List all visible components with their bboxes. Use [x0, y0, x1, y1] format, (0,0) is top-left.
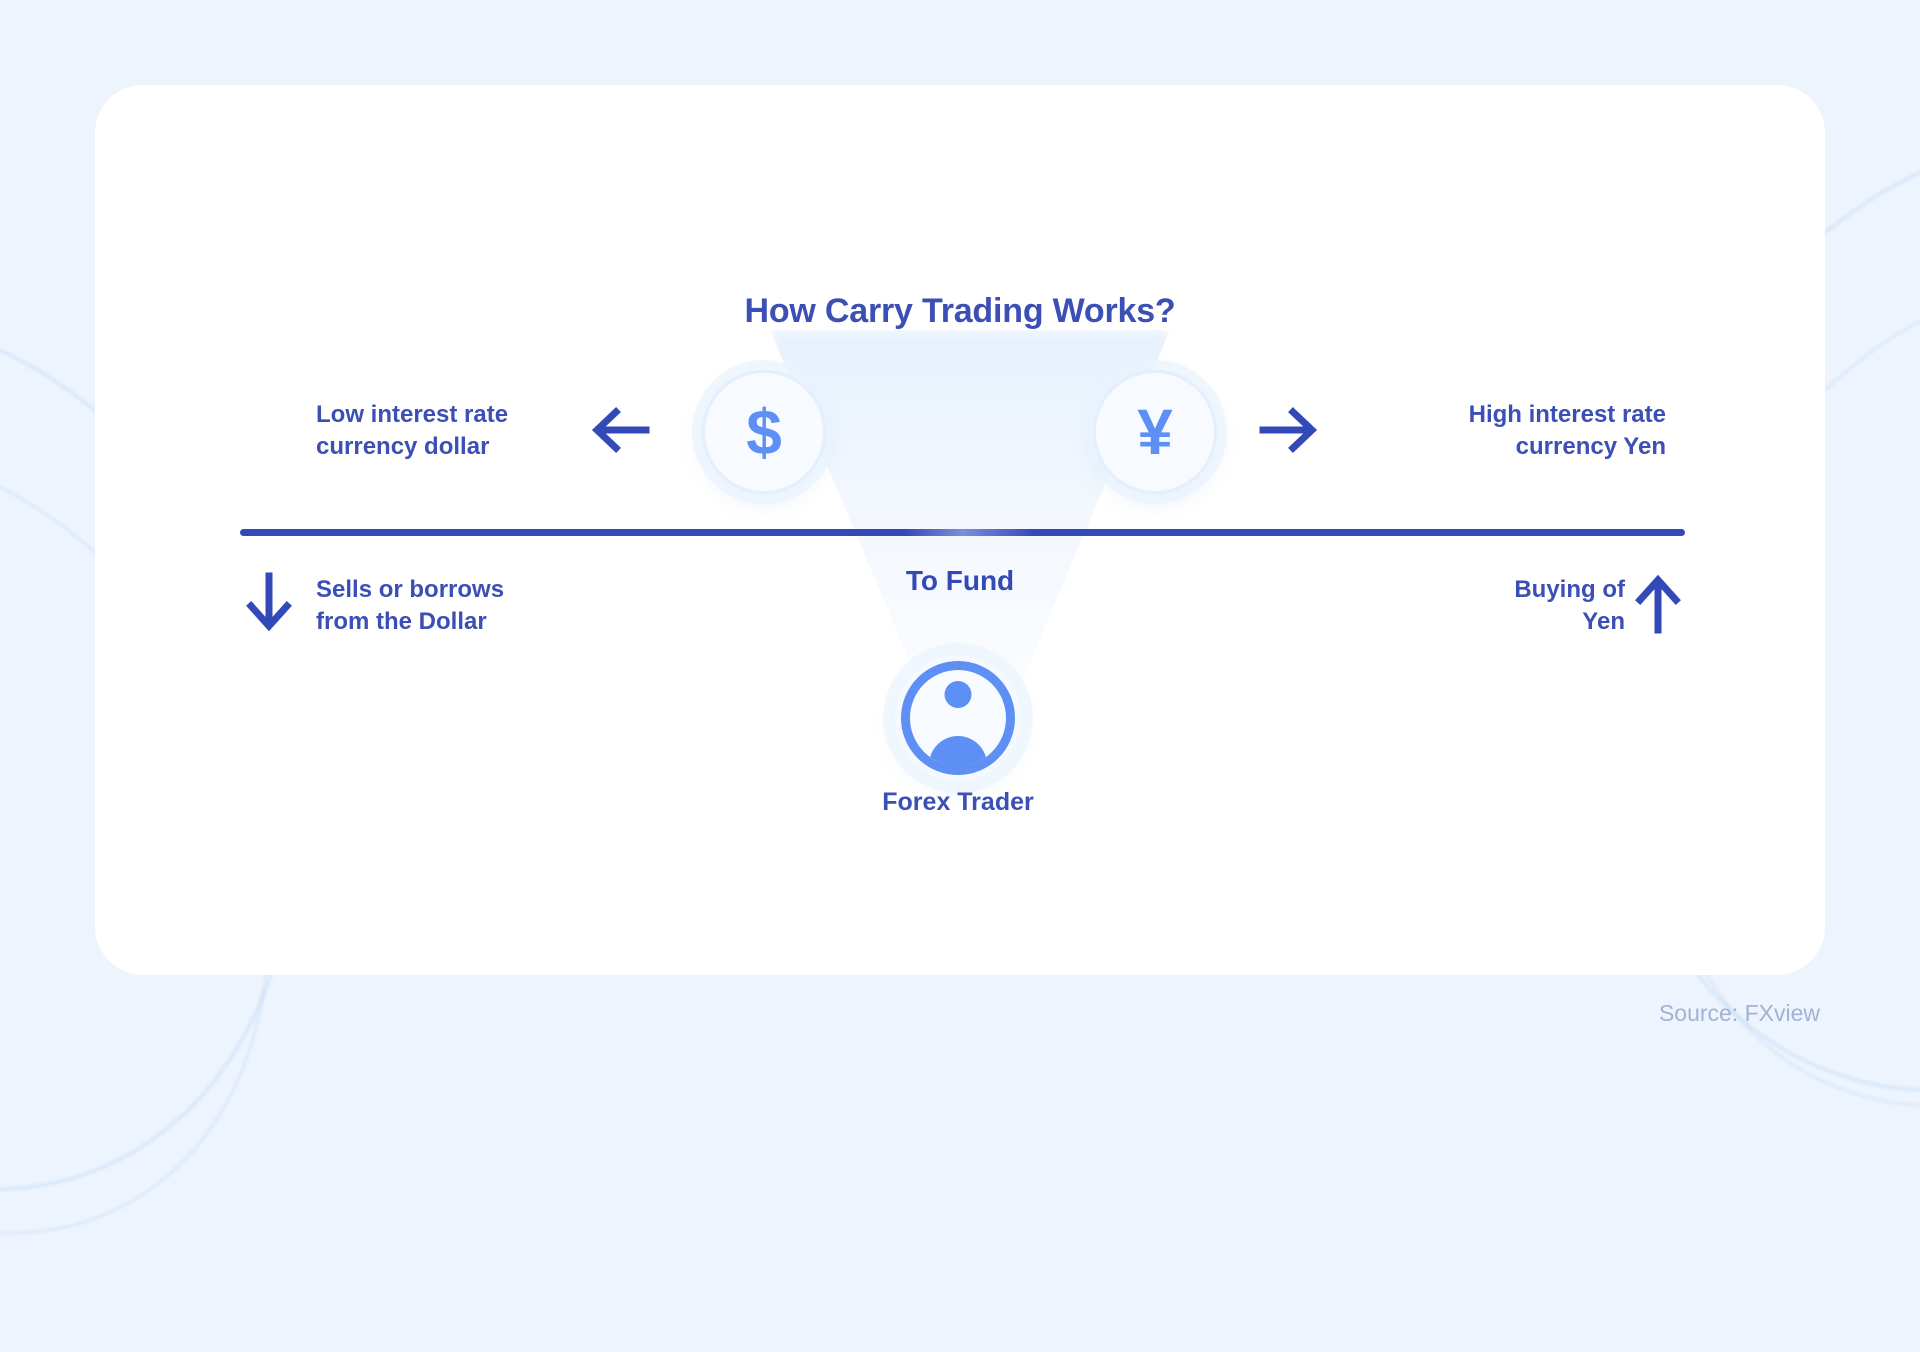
label-high-interest-rate: High interest rate currency Yen	[1366, 399, 1666, 462]
divider-line	[240, 529, 1685, 536]
user-avatar-icon	[895, 655, 1021, 781]
avatar-body	[929, 736, 987, 772]
label-buying-of-yen: Buying of Yen	[1365, 574, 1625, 637]
label-low-interest-rate: Low interest rate currency dollar	[316, 399, 616, 462]
label-sells-or-borrows: Sells or borrows from the Dollar	[316, 574, 616, 637]
arrow-up-icon	[1632, 572, 1684, 639]
dollar-symbol: $	[746, 400, 782, 464]
source-credit: Source: FXview	[1659, 1000, 1820, 1027]
dollar-coin-icon: $	[702, 370, 826, 494]
avatar-head	[945, 681, 972, 708]
arrow-down-icon	[243, 572, 295, 639]
yen-coin-icon: ¥	[1093, 370, 1217, 494]
label-forex-trader: Forex Trader	[838, 788, 1078, 817]
page-title: How Carry Trading Works?	[95, 292, 1825, 331]
arrow-left-icon	[588, 400, 650, 465]
arrow-right-icon	[1259, 400, 1321, 465]
yen-symbol: ¥	[1137, 400, 1173, 464]
label-to-fund: To Fund	[800, 565, 1120, 597]
avatar-ring	[901, 661, 1015, 775]
